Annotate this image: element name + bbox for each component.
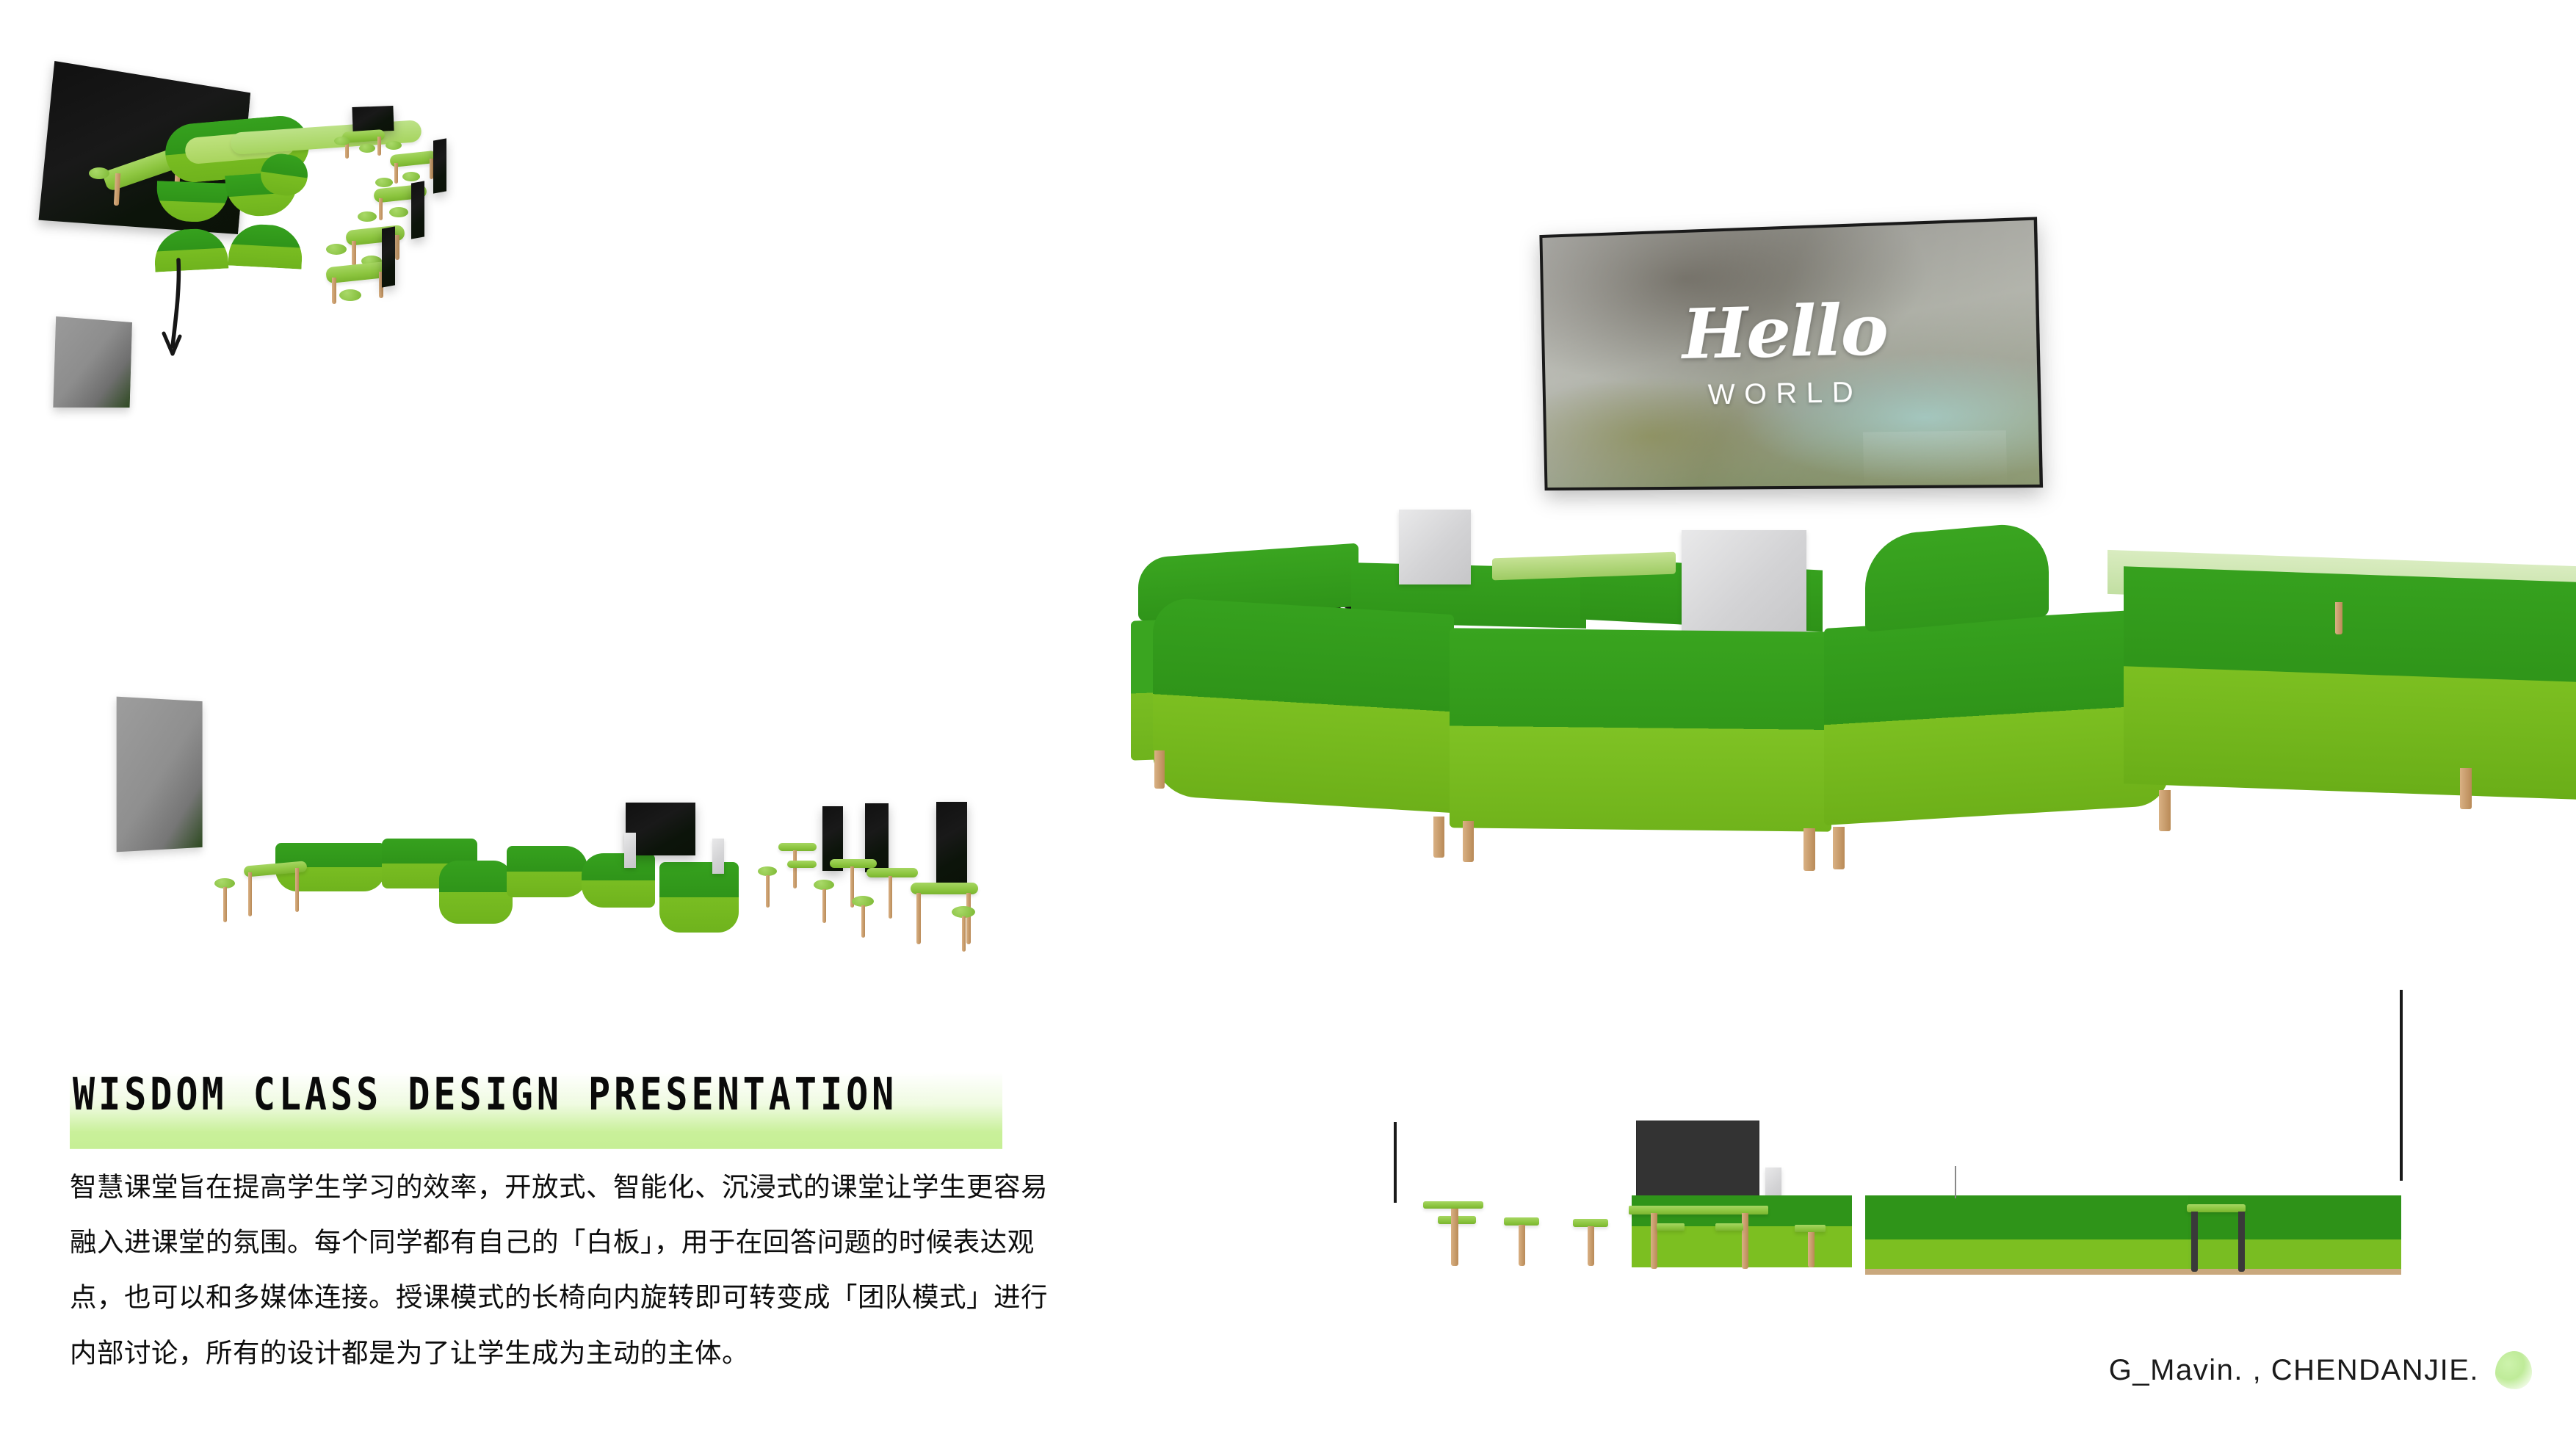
elev-bench-main-seat — [1865, 1239, 2188, 1272]
stool-leg — [962, 916, 966, 952]
stool-leg — [223, 887, 227, 922]
table-bl-3 — [787, 861, 817, 868]
table-leg — [332, 278, 336, 304]
elev-table-leg — [2238, 1212, 2245, 1272]
bench-arc-front-3 — [1450, 628, 1831, 831]
text-section: WISDOM CLASS DESIGN PRESENTATION 智慧课堂旨在提… — [70, 1068, 1303, 1380]
table-leg — [295, 868, 299, 912]
bench-secondary-ring — [1865, 521, 2049, 632]
elevation-drawing — [1381, 984, 2423, 1300]
stool — [89, 167, 109, 179]
dimension-line-right — [2400, 990, 2403, 1181]
bench-curved-d — [228, 222, 304, 269]
display-wallpaper: Hello WORLD — [1542, 220, 2039, 488]
stool — [386, 141, 402, 150]
body-paragraph: 智慧课堂旨在提高学生学习的效率，开放式、智能化、沉浸式的课堂让学生更容易 融入进… — [70, 1159, 1274, 1380]
table-leg — [395, 235, 399, 260]
body-line: 点，也可以和多媒体连接。授课模式的长椅向内旋转即可转变成「团队模式」进行 — [70, 1270, 1274, 1325]
whiteboard-panel-dark — [411, 181, 424, 239]
bench-cluster-c — [439, 861, 513, 924]
table-bl-5 — [866, 868, 918, 877]
elev-table-leg — [2191, 1212, 2198, 1272]
render-bottom-left-perspective — [88, 683, 1057, 962]
elev-bench-main-back — [1865, 1195, 2189, 1239]
bench-leg — [1463, 821, 1474, 862]
bench-arc-front-2 — [1153, 597, 1454, 813]
table-leg — [248, 872, 252, 916]
stool — [359, 144, 375, 153]
wall-display-small-top — [352, 106, 394, 132]
whiteboard-panel — [712, 839, 724, 874]
whiteboard-panel-dark — [382, 226, 395, 287]
bench-arc-front-4 — [1824, 608, 2169, 825]
stool — [339, 289, 361, 301]
table-leg — [793, 850, 797, 888]
page-title-text: WISDOM CLASS DESIGN PRESENTATION — [73, 1068, 897, 1121]
screen-reflection — [1863, 430, 2007, 487]
stool — [389, 207, 408, 217]
wall-display-gray-icon — [117, 697, 203, 852]
elev-table-leg — [1808, 1232, 1815, 1267]
wall-display-lower-left-icon — [53, 316, 132, 408]
table-leg — [394, 163, 398, 184]
whiteboard-panel-right — [1682, 530, 1806, 639]
elev-small-shelf — [1795, 1225, 1826, 1232]
render-right-hero: Hello WORLD 白板 — [1131, 213, 2576, 940]
stool — [326, 244, 347, 255]
table-leg — [377, 137, 381, 156]
stool-leg — [861, 905, 865, 938]
stool — [402, 172, 420, 181]
table-leg — [966, 893, 971, 944]
table-leg — [379, 198, 383, 220]
bench-curved-a — [156, 181, 229, 222]
elev-display-screen — [1636, 1121, 1759, 1203]
presentation-board: Hello WORLD 白板 — [0, 0, 2576, 1448]
bench-leg — [1433, 817, 1444, 858]
table-leg — [889, 876, 892, 919]
elev-table-leg — [1651, 1213, 1657, 1269]
stool — [334, 137, 350, 145]
hero-wall-display: Hello WORLD — [1539, 217, 2043, 490]
elev-bench-main-seat2 — [2188, 1239, 2401, 1272]
bench-leg — [2460, 768, 2472, 809]
whiteboard-panel-dark — [433, 138, 446, 193]
elev-bench-main-back2 — [2188, 1195, 2401, 1239]
signature-text: G_Mavin. , CHENDANJIE. — [2109, 1354, 2479, 1387]
wall-display-mid — [626, 803, 695, 855]
stool — [814, 880, 834, 890]
bench-leg — [1154, 750, 1165, 789]
bench-leg — [1803, 828, 1815, 871]
body-line: 融入进课堂的氛围。每个同学都有自己的「白板」，用于在回答问题的时候表达观 — [70, 1214, 1274, 1270]
bench-curved-e — [258, 151, 310, 198]
elev-table-1-top — [1423, 1201, 1483, 1209]
body-line: 内部讨论，所有的设计都是为了让学生成为主动的主体。 — [70, 1325, 1274, 1380]
stool-leg — [822, 889, 826, 923]
stool-leg — [766, 875, 770, 908]
render-top-left-isometric — [0, 15, 1116, 749]
bench-leg — [2159, 790, 2171, 831]
elev-table-leg — [1519, 1225, 1525, 1266]
table-leg — [916, 893, 921, 944]
table-bl-2 — [778, 843, 817, 851]
elev-bench-base — [1865, 1269, 2401, 1275]
elev-pole — [1955, 1166, 1956, 1198]
dimension-line-left — [1394, 1122, 1397, 1203]
table-leg — [352, 241, 356, 266]
body-line: 智慧课堂旨在提高学生学习的效率，开放式、智能化、沉浸式的课堂让学生更容易 — [70, 1159, 1274, 1214]
whiteboard-panel — [624, 833, 636, 868]
bench-cluster-e — [582, 853, 655, 908]
green-blob-icon — [2495, 1351, 2532, 1389]
elev-table-leg — [1588, 1226, 1594, 1266]
bench-secondary-lower — [2124, 666, 2576, 800]
signature-credit: G_Mavin. , CHENDANJIE. — [2109, 1351, 2532, 1389]
table-leg — [2335, 602, 2342, 634]
bench-cluster-f — [659, 862, 739, 933]
hero-headline: Hello — [1544, 290, 2037, 372]
bench-leg — [1833, 827, 1845, 869]
whiteboard-panel-left — [1399, 510, 1471, 584]
elev-table-leg — [1742, 1213, 1748, 1269]
handdrawn-arrow-icon — [158, 257, 202, 374]
elev-small-shelf — [1657, 1223, 1685, 1231]
bench-cluster-d — [507, 846, 587, 897]
display-panel-vertical — [936, 802, 967, 884]
elev-small-shelf — [1715, 1223, 1743, 1231]
page-title: WISDOM CLASS DESIGN PRESENTATION — [70, 1068, 902, 1129]
stool — [358, 211, 377, 222]
stool — [375, 178, 393, 187]
elev-table-leg — [1451, 1209, 1458, 1266]
